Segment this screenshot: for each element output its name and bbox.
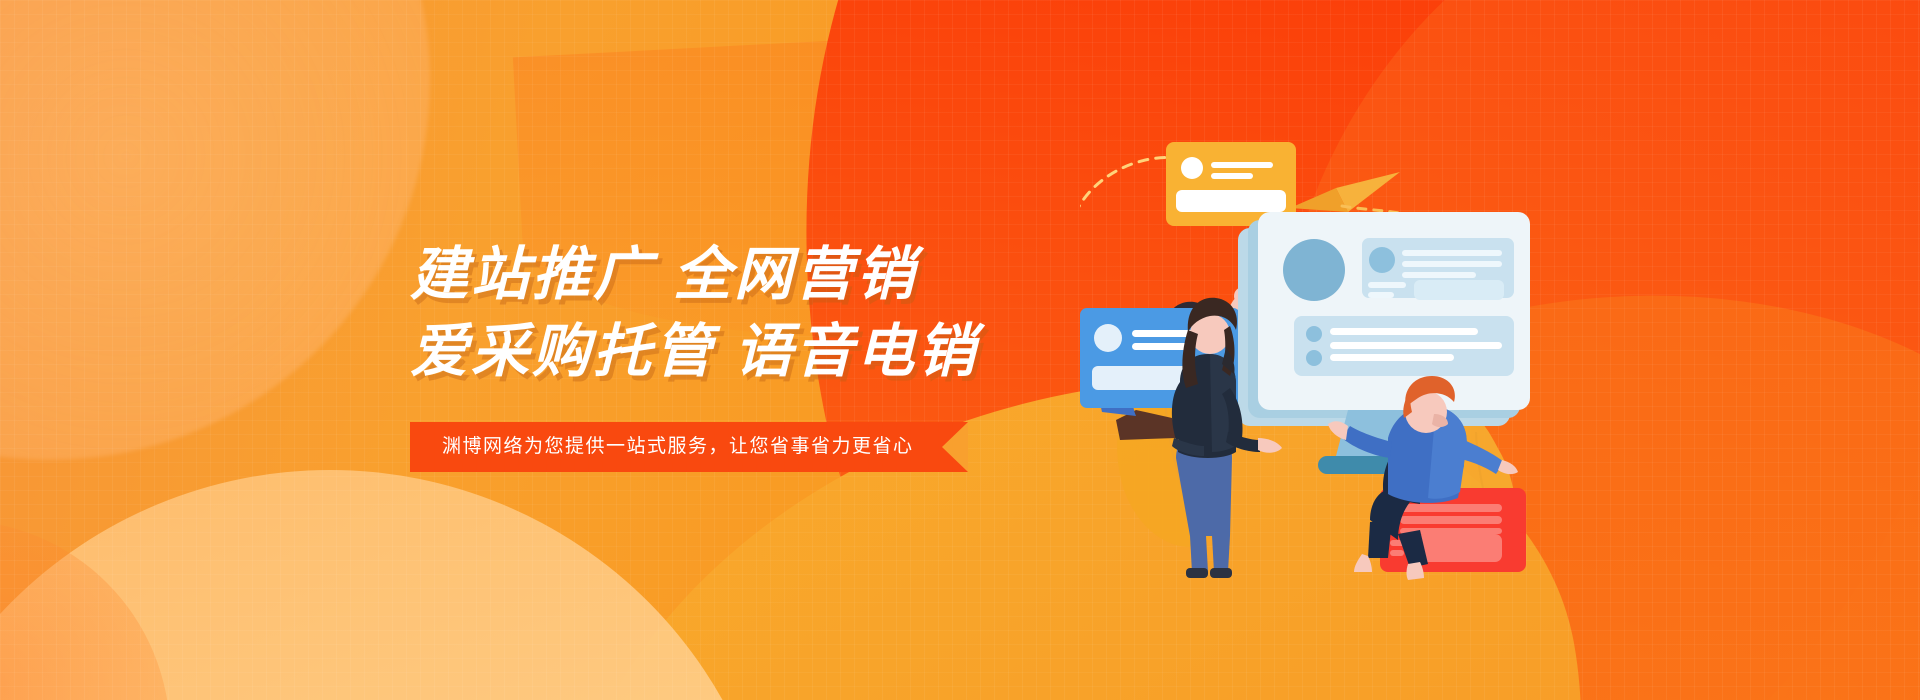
tagline-ribbon: 渊博网络为您提供一站式服务，让您省事省力更省心 (410, 422, 968, 472)
headline-line-2: 爱采购托管 语音电销 (410, 313, 978, 390)
background-blob-bottom-left-accent (0, 520, 170, 700)
background-blob-bottom-left (0, 470, 780, 700)
hero-illustration (1080, 120, 1640, 590)
copy-block: 建站推广 全网营销 爱采购托管 语音电销 渊博网络为您提供一站式服务，让您省事省… (410, 236, 978, 472)
headline-line-1: 建站推广 全网营销 (410, 236, 978, 313)
promo-banner: 建站推广 全网营销 爱采购托管 语音电销 渊博网络为您提供一站式服务，让您省事省… (0, 0, 1920, 700)
tagline-text: 渊博网络为您提供一站式服务，让您省事省力更省心 (442, 436, 914, 457)
ribbon-notch-shape (942, 422, 968, 472)
background-blob-top-left (0, 0, 430, 460)
